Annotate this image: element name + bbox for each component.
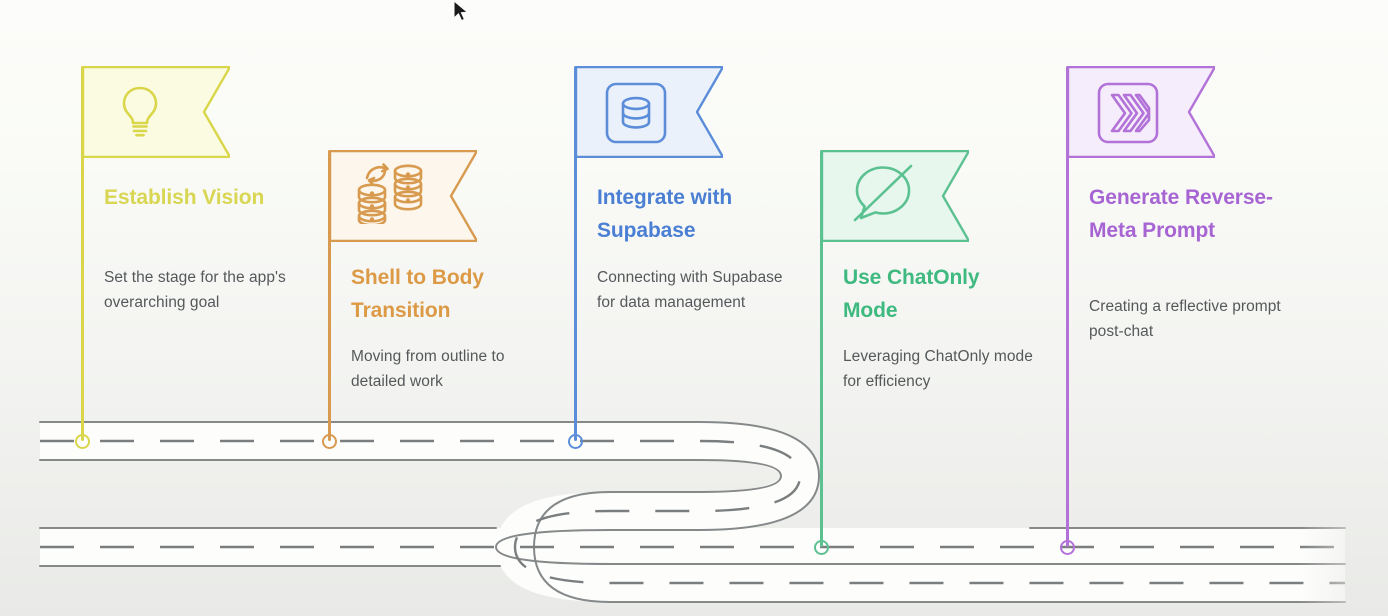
milestone-description: Set the stage for the app's overarching …: [104, 265, 299, 315]
milestone-title: Establish Vision: [104, 182, 299, 215]
milestone-node-marker[interactable]: [75, 434, 90, 449]
road-geometry: [40, 422, 1345, 602]
milestone-flag[interactable]: [1067, 66, 1215, 158]
milestone-title: Generate Reverse-Meta Prompt: [1089, 182, 1284, 247]
milestone-description: Leveraging ChatOnly mode for efficiency: [843, 344, 1038, 394]
milestone-node-marker[interactable]: [568, 434, 583, 449]
milestone-title: Use ChatOnly Mode: [843, 262, 1038, 327]
milestone-node-marker[interactable]: [814, 540, 829, 555]
milestone-flag[interactable]: [329, 150, 477, 242]
milestone-description: Connecting with Supabase for data manage…: [597, 265, 792, 315]
roadmap-infographic: Establish VisionSet the stage for the ap…: [0, 0, 1388, 616]
milestone-description: Creating a reflective prompt post-chat: [1089, 294, 1284, 344]
milestone-description: Moving from outline to detailed work: [351, 344, 546, 394]
milestone-node-marker[interactable]: [1060, 540, 1075, 555]
milestone-title: Shell to Body Transition: [351, 262, 546, 327]
milestone-flag[interactable]: [821, 150, 969, 242]
milestone-flag[interactable]: [575, 66, 723, 158]
milestone-title: Integrate with Supabase: [597, 182, 792, 247]
milestone-node-marker[interactable]: [322, 434, 337, 449]
milestone-flag[interactable]: [82, 66, 230, 158]
